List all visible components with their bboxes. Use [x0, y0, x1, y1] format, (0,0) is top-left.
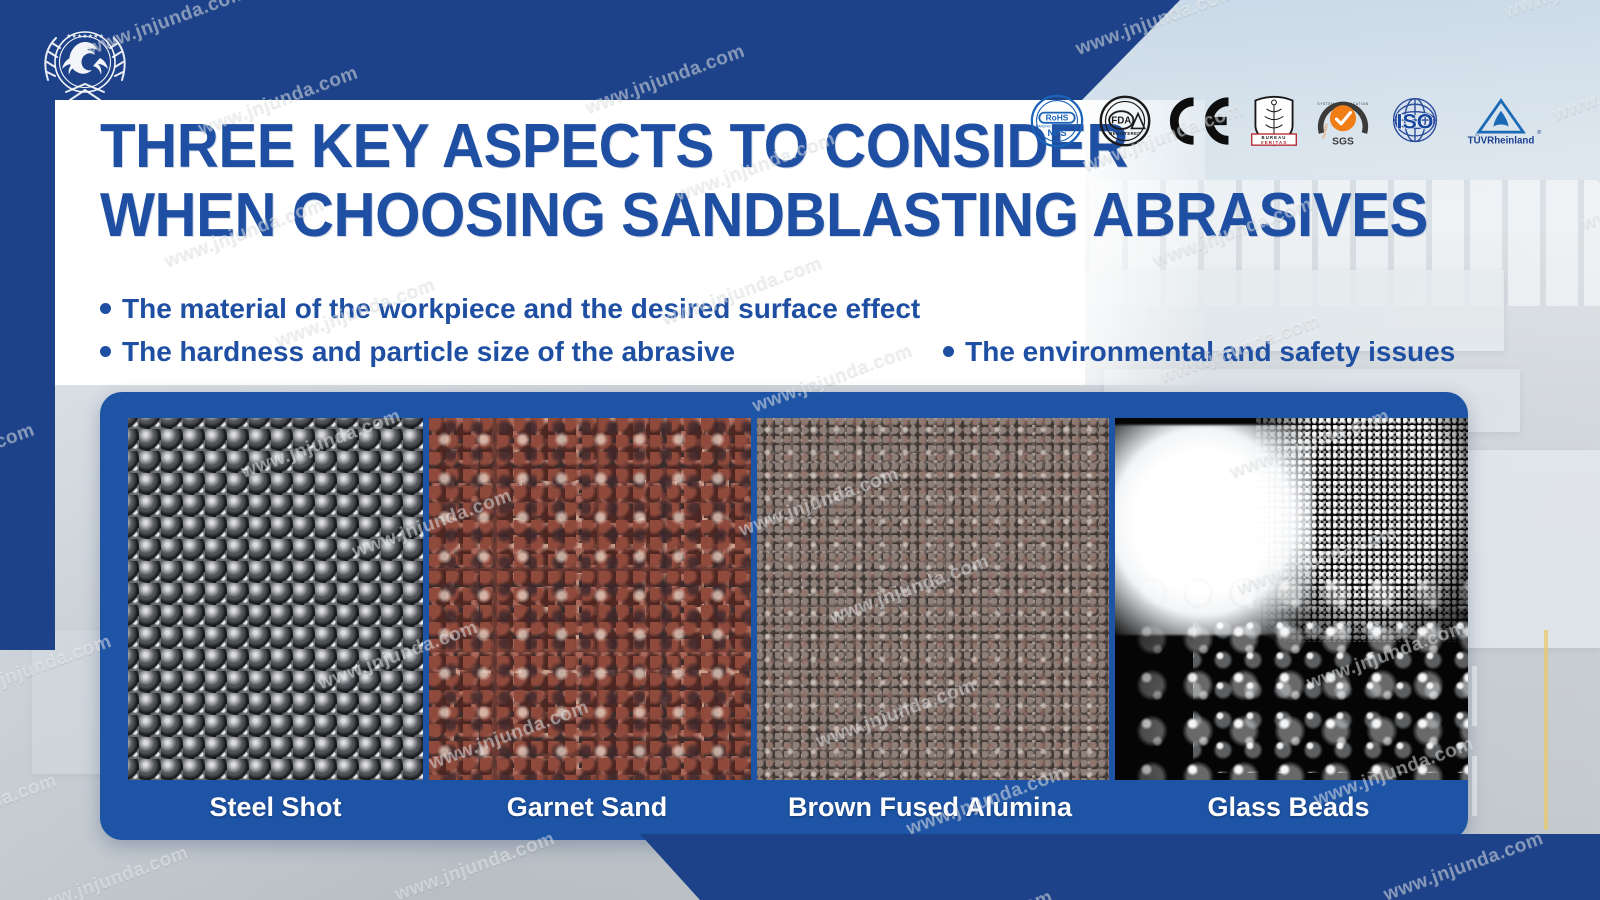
svg-text:NPS: NPS: [1047, 128, 1066, 138]
ce-mark-badge: [1166, 92, 1234, 150]
glass-beads-texture: [1115, 418, 1468, 780]
svg-text:VERITAS: VERITAS: [1261, 140, 1288, 145]
glass-beads-image: [1115, 418, 1468, 780]
certification-badge-bar: RoHS MANUFACTURING SERVICE NPS FDA REGIS…: [1030, 88, 1544, 154]
bullet-row-2: The hardness and particle size of the ab…: [100, 331, 1520, 374]
svg-text:SGS: SGS: [1332, 136, 1354, 147]
garnet-sand-texture: [429, 418, 751, 780]
bureau-veritas-badge: BUREAU VERITAS: [1248, 92, 1300, 150]
sgs-badge: SYSTEM CERTIFICATION ISO 9001 SGS: [1314, 92, 1372, 150]
product-label-steel-shot: Steel Shot: [128, 792, 423, 823]
bullet-row-1: The material of the workpiece and the de…: [100, 288, 1520, 331]
glass-bead-cluster-small: [1193, 606, 1468, 773]
header-navy-band: [0, 0, 1180, 100]
bullet-text: The hardness and particle size of the ab…: [122, 331, 735, 374]
list-item: The environmental and safety issues: [943, 331, 1455, 374]
product-gallery-panel: Steel Shot Garnet Sand Brown Fused Alumi…: [100, 392, 1468, 840]
svg-text:★★★★★★★: ★★★★★★★: [66, 33, 104, 40]
headline-line-2: WHEN CHOOSING SANDBLASTING ABRASIVES: [100, 181, 1428, 250]
svg-text:SYSTEM CERTIFICATION: SYSTEM CERTIFICATION: [1317, 102, 1368, 106]
svg-text:RoHS: RoHS: [1046, 113, 1069, 123]
brown-fused-alumina-image: [757, 418, 1109, 780]
list-item: The hardness and particle size of the ab…: [100, 331, 735, 374]
product-label-glass-beads: Glass Beads: [1109, 792, 1468, 823]
product-label-brown-fused-alumina: Brown Fused Alumina: [751, 792, 1109, 823]
bullet-dot-icon: [100, 346, 111, 357]
brown-fused-alumina-texture: [757, 418, 1109, 780]
steel-shot-texture: [128, 418, 423, 780]
bullet-dot-icon: [100, 303, 111, 314]
product-label-garnet-sand: Garnet Sand: [423, 792, 751, 823]
iso-badge: ISO: [1386, 92, 1444, 150]
svg-text:FDA: FDA: [1111, 115, 1131, 126]
svg-text:REGISTERED: REGISTERED: [1109, 131, 1140, 136]
svg-text:TÜVRheinland: TÜVRheinland: [1468, 135, 1535, 146]
fda-registered-badge: FDA REGISTERED: [1098, 92, 1152, 150]
company-emblem-logo: ★★★★★★★: [26, 18, 144, 106]
svg-text:®: ®: [1537, 129, 1542, 136]
bullet-text: The material of the workpiece and the de…: [122, 288, 920, 331]
product-image-strip: [128, 418, 1468, 780]
steel-shot-image: [128, 418, 423, 780]
tuv-rheinland-badge: TÜVRheinland ®: [1458, 92, 1544, 150]
bullet-text: The environmental and safety issues: [965, 331, 1455, 374]
key-aspects-list: The material of the workpiece and the de…: [100, 288, 1520, 373]
bullet-dot-icon: [943, 346, 954, 357]
list-item: The material of the workpiece and the de…: [100, 288, 920, 331]
product-label-row: Steel Shot Garnet Sand Brown Fused Alumi…: [128, 782, 1468, 832]
garnet-sand-image: [429, 418, 751, 780]
svg-text:ISO: ISO: [1397, 109, 1434, 133]
rohs-nps-badge: RoHS MANUFACTURING SERVICE NPS: [1030, 92, 1084, 150]
